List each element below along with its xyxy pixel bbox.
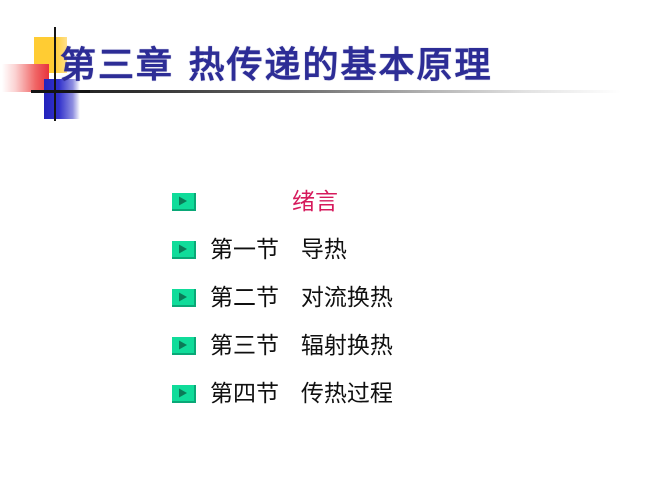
slide-canvas: 第三章 热传递的基本原理 绪言 第一节 导热 [0,0,668,502]
list-item[interactable]: 第一节 导热 [0,226,668,274]
list-item[interactable]: 第三节 辐射换热 [0,322,668,370]
list-item-label: 第四节 传热过程 [210,380,393,408]
title-block: 第三章 热传递的基本原理 [0,0,668,135]
play-triangle-icon [172,289,196,307]
play-triangle-icon [172,385,196,403]
red-gradient-square-decoration [2,64,49,92]
contents-list: 绪言 第一节 导热 第二节 对流换热 [0,178,668,418]
title-underline-rule [31,90,621,93]
list-item-label: 绪言 [292,188,338,216]
play-triangle-icon [172,337,196,355]
list-item[interactable]: 第二节 对流换热 [0,274,668,322]
play-triangle-icon [172,241,196,259]
list-item-label: 第一节 导热 [210,236,347,264]
crosshair-horizontal-decoration [31,90,90,93]
play-triangle-icon [172,193,196,211]
list-item-label: 第二节 对流换热 [210,284,393,312]
list-item-label: 第三节 辐射换热 [210,332,393,360]
list-item[interactable]: 绪言 [0,178,668,226]
crosshair-vertical-decoration [54,27,56,121]
list-item[interactable]: 第四节 传热过程 [0,370,668,418]
slide-title: 第三章 热传递的基本原理 [60,44,493,88]
